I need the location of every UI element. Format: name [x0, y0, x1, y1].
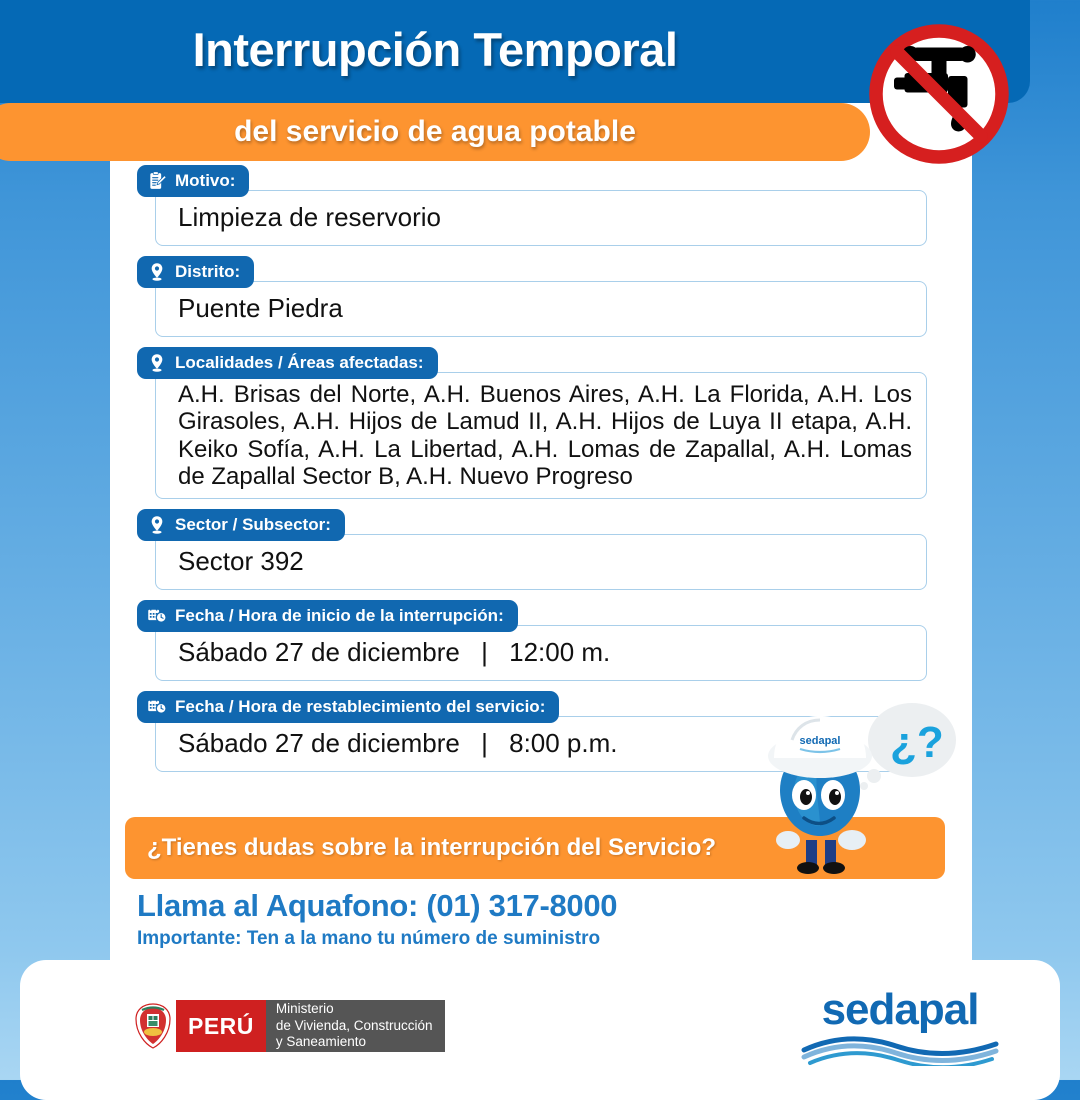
- end-separator: |: [467, 728, 502, 758]
- calendar-clock-icon: [147, 606, 167, 626]
- map-pin-icon: [147, 262, 167, 282]
- contact-question-text: ¿Tienes dudas sobre la interrupción del …: [147, 817, 716, 879]
- field-start-datetime: Fecha / Hora de inicio de la interrupció…: [137, 600, 943, 681]
- ministry-line-2: de Vivienda, Construcción: [276, 1018, 433, 1034]
- field-localidades-label: Localidades / Áreas afectadas:: [137, 347, 438, 379]
- field-start-datetime-label: Fecha / Hora de inicio de la interrupció…: [137, 600, 518, 632]
- field-start-datetime-label-text: Fecha / Hora de inicio de la interrupció…: [175, 606, 504, 626]
- end-date: Sábado 27 de diciembre: [178, 728, 460, 758]
- field-sector-label-text: Sector / Subsector:: [175, 515, 331, 535]
- mascot-bubble-text: ¿?: [890, 718, 944, 767]
- field-end-datetime-label-text: Fecha / Hora de restablecimiento del ser…: [175, 697, 545, 717]
- peru-label: PERÚ: [176, 1000, 266, 1052]
- subtitle-banner: del servicio de agua potable: [0, 103, 870, 161]
- field-distrito: Distrito: Puente Piedra: [137, 256, 943, 337]
- field-sector: Sector / Subsector: Sector 392: [137, 509, 943, 590]
- field-distrito-label: Distrito:: [137, 256, 254, 288]
- field-localidades-label-text: Localidades / Áreas afectadas:: [175, 353, 424, 373]
- start-time: 12:00 m.: [509, 637, 610, 667]
- mascot-hat-text: sedapal: [800, 735, 841, 747]
- calendar-clock-icon: [147, 697, 167, 717]
- sedapal-mascot: ¿? sedapal: [740, 700, 970, 890]
- field-motivo: Motivo: Limpieza de reservorio: [137, 165, 943, 246]
- map-pin-icon: [147, 353, 167, 373]
- map-pin-icon: [147, 515, 167, 535]
- page-title: Interrupción Temporal: [0, 22, 870, 77]
- sedapal-wordmark: sedapal: [800, 988, 1000, 1032]
- field-start-datetime-value: Sábado 27 de diciembre | 12:00 m.: [155, 625, 927, 681]
- fields-list: Motivo: Limpieza de reservorio Distrito:…: [137, 165, 943, 782]
- field-end-datetime-label: Fecha / Hora de restablecimiento del ser…: [137, 691, 559, 723]
- clipboard-pencil-icon: [147, 171, 167, 191]
- peru-government-logo: PERÚ Ministerio de Vivienda, Construcció…: [130, 1000, 445, 1052]
- field-localidades-value: A.H. Brisas del Norte, A.H. Buenos Aires…: [155, 372, 927, 499]
- field-sector-label: Sector / Subsector:: [137, 509, 345, 541]
- end-time: 8:00 p.m.: [509, 728, 617, 758]
- no-water-tap-icon: [864, 18, 1014, 170]
- sedapal-wave-icon: [800, 1032, 1000, 1066]
- field-distrito-value: Puente Piedra: [155, 281, 927, 337]
- field-motivo-label: Motivo:: [137, 165, 249, 197]
- page-subtitle: del servicio de agua potable: [0, 103, 870, 161]
- start-date: Sábado 27 de diciembre: [178, 637, 460, 667]
- ministry-label: Ministerio de Vivienda, Construcción y S…: [266, 1000, 445, 1052]
- ministry-line-3: y Saneamiento: [276, 1034, 433, 1050]
- field-motivo-label-text: Motivo:: [175, 171, 235, 191]
- start-separator: |: [467, 637, 502, 667]
- ministry-line-1: Ministerio: [276, 1001, 433, 1017]
- field-localidades: Localidades / Áreas afectadas: A.H. Bris…: [137, 347, 943, 499]
- contact-info: Llama al Aquafono: (01) 317-8000 Importa…: [137, 888, 837, 950]
- peru-coat-of-arms-icon: [130, 1000, 176, 1052]
- contact-note: Importante: Ten a la mano tu número de s…: [137, 928, 837, 950]
- sedapal-logo: sedapal: [800, 988, 1000, 1068]
- field-sector-value: Sector 392: [155, 534, 927, 590]
- field-distrito-label-text: Distrito:: [175, 262, 240, 282]
- aquafono-phone[interactable]: Llama al Aquafono: (01) 317-8000: [137, 888, 837, 924]
- field-motivo-value: Limpieza de reservorio: [155, 190, 927, 246]
- footer-panel: PERÚ Ministerio de Vivienda, Construcció…: [20, 960, 1060, 1100]
